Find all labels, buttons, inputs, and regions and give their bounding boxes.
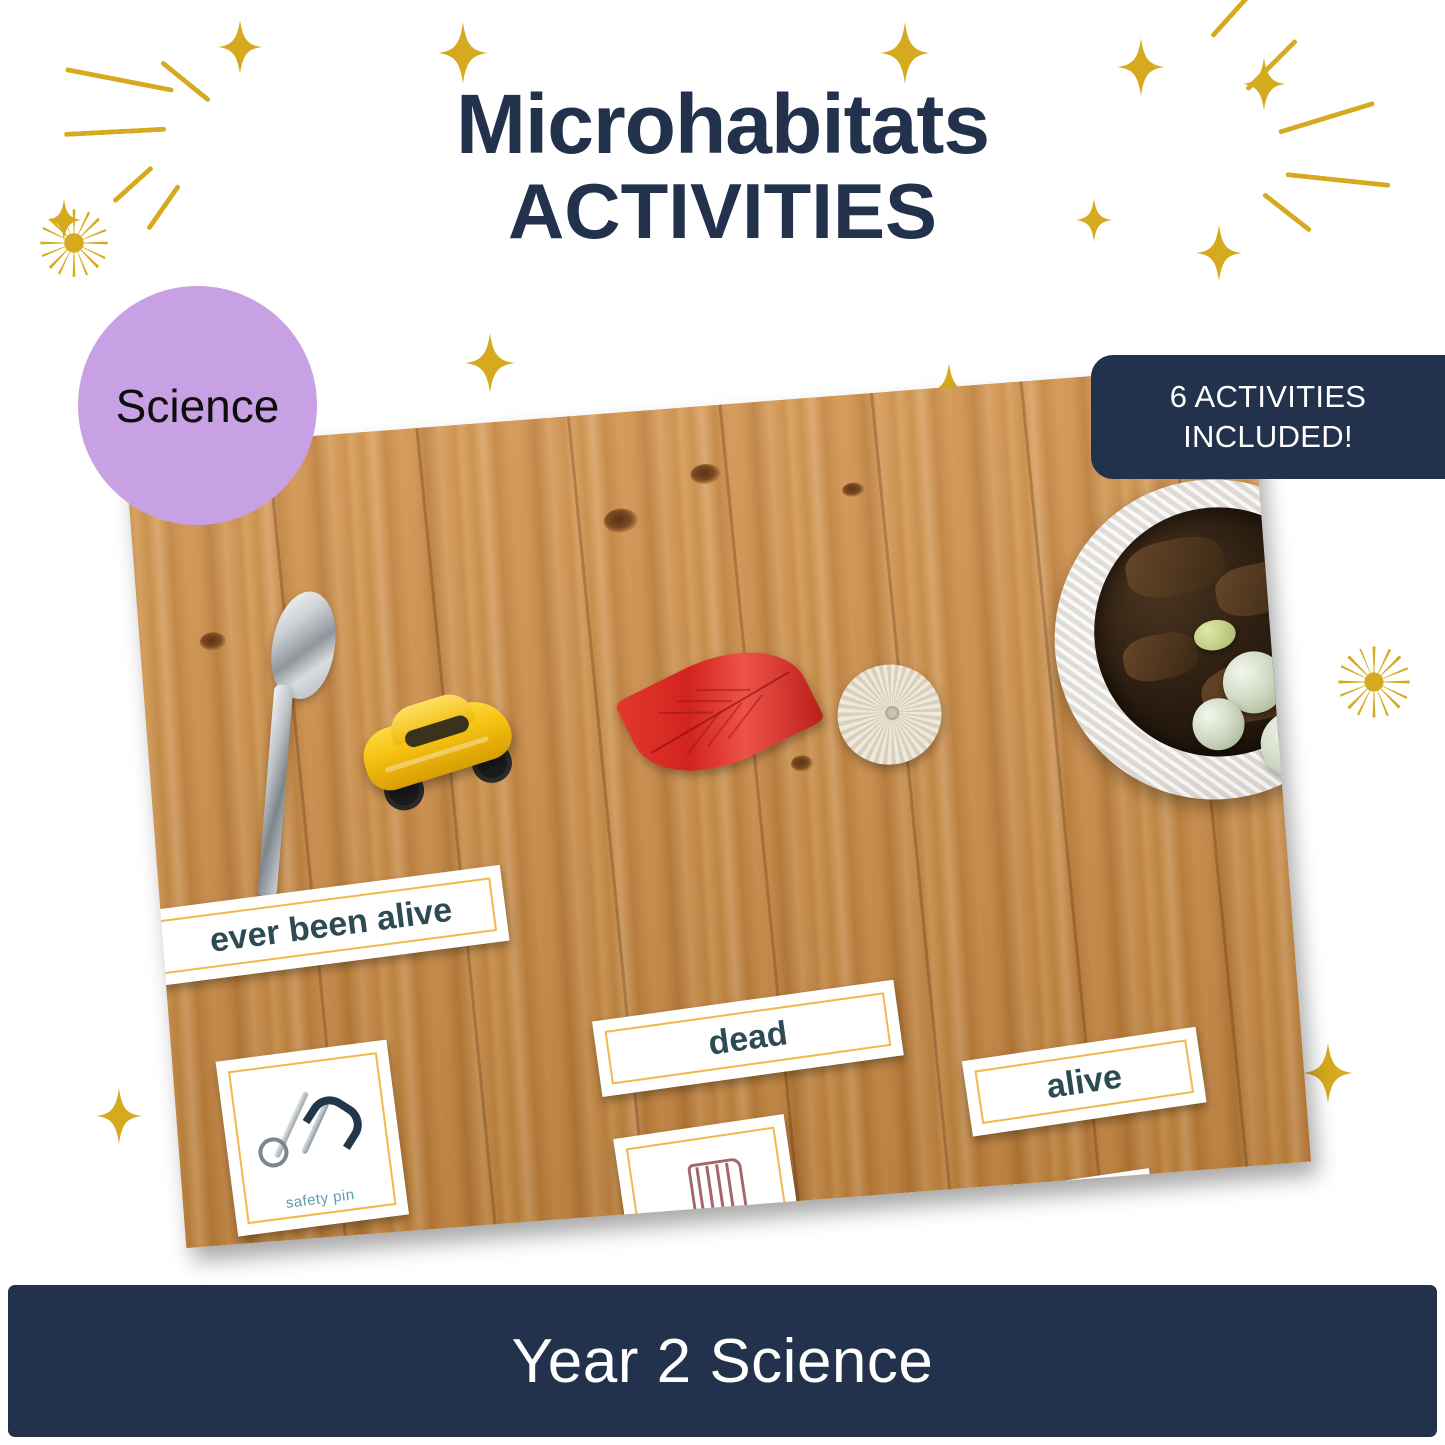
sparkle-icon (96, 1088, 142, 1144)
photo-frame: ever been alive dead alive (125, 364, 1311, 1248)
sparkle-icon (465, 333, 515, 393)
footer-banner: Year 2 Science (8, 1285, 1437, 1437)
sparkle-icon (438, 22, 488, 84)
activities-badge-label: 6 ACTIVITIES INCLUDED! (1091, 369, 1445, 464)
product-photo: ever been alive dead alive (154, 406, 1314, 1236)
page-title: Microhabitats ACTIVITIES (0, 80, 1445, 256)
word-card: alive (962, 1027, 1207, 1137)
chair-icon (661, 1156, 761, 1248)
starburst-icon (1337, 645, 1411, 724)
yellow-toy-car (352, 679, 524, 815)
title-line-1: Microhabitats (0, 80, 1445, 168)
red-leaf (614, 623, 825, 801)
limpet-shell (829, 656, 949, 773)
potted-cactus (1026, 451, 1311, 828)
title-line-2: ACTIVITIES (0, 168, 1445, 255)
activities-badge: 6 ACTIVITIES INCLUDED! (1091, 355, 1445, 479)
subject-badge-label: Science (116, 379, 280, 433)
metal-spoon (219, 585, 350, 904)
poster-canvas: Microhabitats ACTIVITIES (0, 0, 1445, 1445)
sparkle-icon (880, 22, 930, 84)
picture-card: wooden chair (613, 1114, 809, 1248)
wooden-table-background: ever been alive dead alive (125, 364, 1311, 1248)
tree-icon (1021, 1209, 1131, 1248)
sparkle-icon (218, 20, 262, 74)
picture-card: safety pin (216, 1040, 409, 1237)
footer-banner-label: Year 2 Science (512, 1326, 934, 1397)
subject-badge: Science (78, 286, 317, 525)
ray-icon (1210, 0, 1257, 38)
word-card: dead (592, 980, 904, 1097)
picture-card: tree (979, 1168, 1175, 1248)
